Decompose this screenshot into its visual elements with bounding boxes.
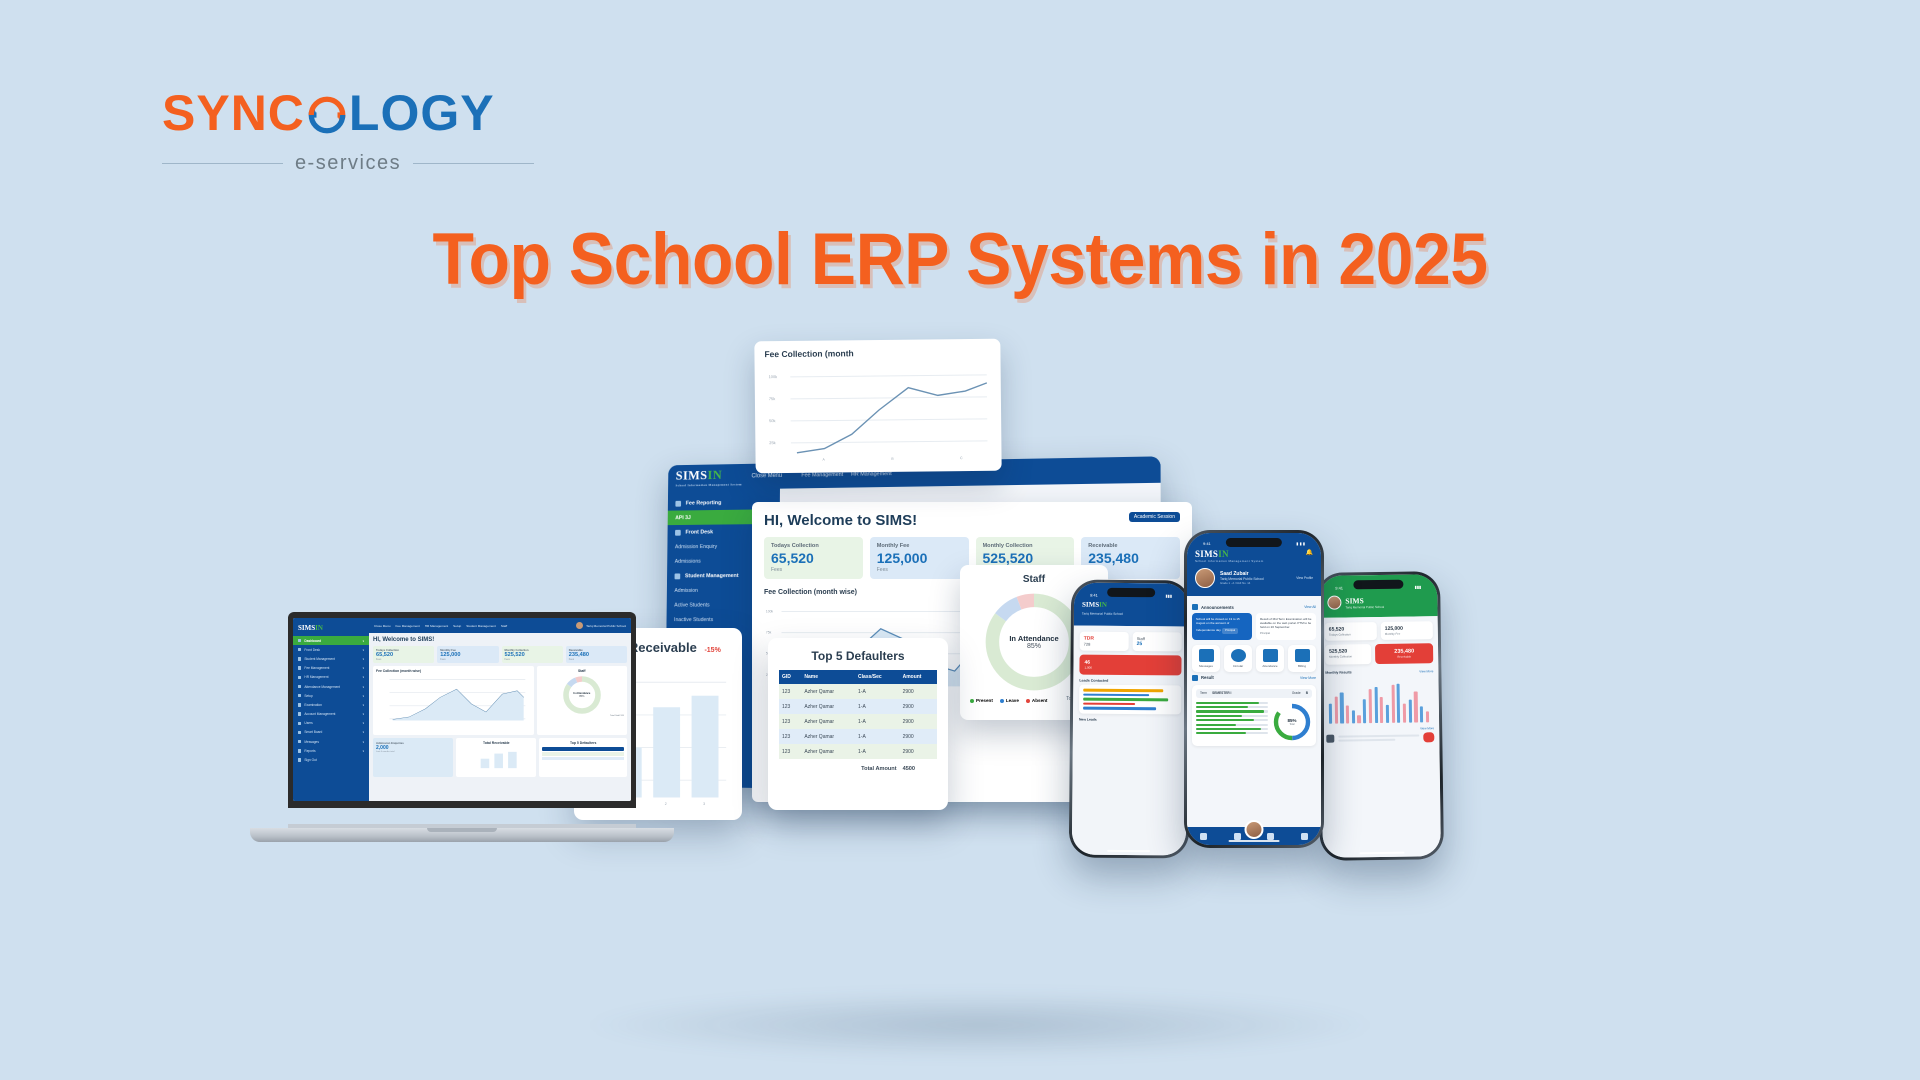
cell-gid: 123 <box>779 699 801 714</box>
donut-label-value: 85% <box>1027 643 1041 650</box>
laptop-sidebar-item-front-desk[interactable]: Front Desk▾ <box>293 645 369 654</box>
grade-label: Grade <box>1292 691 1301 695</box>
sidebar-label: Front Desk <box>685 529 713 535</box>
phone-left-body: TDR 728 Staff 25 46 1,006 Leads Contacte… <box>1072 626 1188 856</box>
staff-total-label: Total Staff 120 <box>540 715 624 717</box>
phone-right-kpi-row: 65,520 Todays Collection 125,000 Monthly… <box>1325 621 1433 641</box>
admission-sub: Last 6 months total <box>376 751 450 753</box>
laptop-main: Close Menu Fee Management HR Management … <box>369 618 631 801</box>
academic-session-badge[interactable]: Academic Session <box>1129 512 1180 522</box>
laptop-sidebar-item-users[interactable]: Users▾ <box>293 719 369 728</box>
tile-label: Messages <box>1194 664 1218 668</box>
laptop-staff-donut: In Attendance 85% <box>562 675 602 715</box>
laptop-close-menu[interactable]: Close Menu <box>374 624 391 628</box>
school-name: Tariq Memorial Public School <box>586 624 626 628</box>
kpi-label: Receivable <box>1381 654 1427 659</box>
announcement-tag: Principal <box>1260 632 1312 636</box>
laptop-nav-student[interactable]: Student Management <box>466 624 496 628</box>
donut-label-value: 85% <box>579 695 584 698</box>
laptop-bar-chart <box>459 745 533 769</box>
laptop-sidebar-item-hr-management[interactable]: HR Management▾ <box>293 673 369 682</box>
cell-gid: 123 <box>779 684 801 699</box>
legend-leave: Leave <box>1000 698 1019 703</box>
laptop-chart-row: Fee Collection (month wise) <box>373 666 627 735</box>
phone-notch <box>1226 538 1282 547</box>
tile-messages[interactable]: Messages <box>1192 645 1220 672</box>
term-label: Term <box>1200 691 1207 695</box>
subject-bar <box>1196 706 1268 708</box>
kpi-value: 25 <box>1137 641 1178 647</box>
list-icon <box>1326 735 1334 743</box>
grade-value: B <box>1306 691 1308 695</box>
announcement-card-2[interactable]: Result of Mid Term Examination will be a… <box>1256 613 1316 640</box>
avatar <box>576 622 583 629</box>
legend-label: Leave <box>1006 698 1019 703</box>
stat-value: 65,520 <box>771 550 856 566</box>
svg-text:75k: 75k <box>769 396 775 401</box>
status-icons: ▮▮▮ <box>1415 584 1422 589</box>
sidebar-label: Fee Reporting <box>686 500 722 506</box>
stat-sub: Fees <box>376 658 431 661</box>
laptop-fee-chart-card: Fee Collection (month wise) <box>373 666 534 735</box>
section-title: Result <box>1201 675 1214 680</box>
subject-bar <box>1196 724 1268 726</box>
student-icon <box>675 573 681 579</box>
phone-left-footer: New Leads <box>1079 717 1181 722</box>
tagline-rule-right <box>413 163 534 164</box>
laptop-sidebar[interactable]: SIMSIN Dashboard▾ Front Desk▾ Student Ma… <box>293 618 369 801</box>
cell-name: Azher Qamar <box>801 684 855 699</box>
laptop-sidebar-item-attendance[interactable]: Attendance Management▾ <box>293 682 369 691</box>
tagline-rule-left <box>162 163 283 164</box>
brand-tagline: e-services <box>295 152 401 175</box>
cell-gid: 123 <box>779 744 801 759</box>
brand-name-part2: LOGY <box>349 88 495 138</box>
stat-sub: Fees <box>505 658 560 661</box>
sidebar-label: HR Management <box>304 675 328 679</box>
status-time: 9:41 <box>1203 541 1211 546</box>
announcements-header: Announcements View All <box>1192 604 1316 610</box>
cell-amount: 2900 <box>900 684 937 699</box>
laptop-stat-today: Todays Collection 65,520 Fees <box>373 646 434 663</box>
list-red-badge[interactable] <box>1423 732 1434 742</box>
phone-right-kpi-receivable: 235,480 Receivable <box>1375 643 1433 664</box>
phone-right-grouped-bar-chart <box>1325 678 1434 724</box>
page-title: Top School ERP Systems in 2025 <box>67 218 1853 301</box>
status-icons: ▮▮▮ <box>1165 593 1172 598</box>
result-icon <box>1192 675 1198 681</box>
laptop-admission-card: Admission Enquiries 2,000 Last 6 months … <box>373 738 453 777</box>
calendar-icon <box>1263 649 1278 662</box>
result-card-header: Term SEMESTER I Grade B <box>1196 689 1312 698</box>
phone-left-frame: 9:41 ▮▮▮ SIMSIN Tariq Memorial Public Sc… <box>1069 579 1191 858</box>
sidebar-label: Front Desk <box>304 648 320 652</box>
defaulters-table: GID Name Class/Sec Amount 123 Azher Qama… <box>779 670 937 777</box>
laptop-nav-setup[interactable]: Setup <box>453 624 461 628</box>
invoice-icon <box>1295 649 1310 662</box>
phone-right-kpi-3: 525,520 Monthly Collection <box>1325 644 1371 665</box>
kpi-label: Monthly Fee <box>1385 631 1429 636</box>
section-title: Announcements <box>1201 605 1234 610</box>
sidebar-label: Account Management <box>304 712 335 716</box>
svg-text:B: B <box>891 457 894 461</box>
tile-label: Circular <box>1226 664 1250 668</box>
sidebar-label: Attendance Management <box>304 685 340 689</box>
cell-name: Azher Qamar <box>801 699 855 714</box>
stat-card-monthly-fee: Monthly Fee 125,000 Fees <box>870 537 969 579</box>
phone-left-device: 9:41 ▮▮▮ SIMSIN Tariq Memorial Public Sc… <box>1069 579 1191 858</box>
sidebar-label: Messages <box>304 740 319 744</box>
sync-circle-icon <box>306 94 348 136</box>
staff-card-title: Staff <box>970 574 1098 585</box>
brand-name-part1: SYNC <box>162 88 305 138</box>
laptop-device: SIMSIN Dashboard▾ Front Desk▾ Student Ma… <box>250 612 674 842</box>
circle-icon <box>1231 649 1246 662</box>
laptop-nav-staff[interactable]: Staff <box>501 624 507 628</box>
sidebar-label: Fee Management <box>304 666 329 670</box>
announcement-text: Result of Mid Term Examination will be a… <box>1260 617 1311 629</box>
laptop-stat-monthly-collection: Monthly Collection 525,520 Fees <box>502 646 563 663</box>
cell-amount: 2900 <box>900 699 937 714</box>
chat-icon[interactable] <box>1267 833 1274 840</box>
announcement-tag: Principal <box>1222 628 1238 634</box>
chat-icon <box>1199 649 1214 662</box>
phone-left-kpi-staff: Staff 25 <box>1133 632 1182 651</box>
profile-avatar[interactable] <box>1245 820 1264 839</box>
stat-label: Monthly Collection <box>983 543 1068 549</box>
view-all-link[interactable]: View All <box>1304 605 1316 609</box>
report-icon <box>675 500 681 506</box>
view-profile-link[interactable]: View Profile <box>1296 576 1313 580</box>
stat-value: 235,480 <box>1088 550 1173 566</box>
stat-sub: Fees <box>877 567 962 573</box>
sims-logo-phone-left: SIMSIN <box>1082 601 1180 610</box>
laptop-stat-row: Todays Collection 65,520 Fees Monthly Fe… <box>373 646 627 663</box>
sims-logo-phone-center: SIMSIN <box>1195 549 1264 559</box>
phone-right-device: 9:41 ▮▮▮ SIMS Tariq Memorial Public Scho… <box>1316 571 1444 861</box>
term-value: SEMESTER I <box>1212 691 1231 695</box>
tile-label: Billing <box>1290 664 1314 668</box>
table-row[interactable]: 123 Azher Qamar 1-A 2900 <box>779 714 937 729</box>
laptop-bottom-row: Admission Enquiries 2,000 Last 6 months … <box>373 738 627 777</box>
subject-bar <box>1196 732 1268 734</box>
quick-action-tiles: Messages Circular Attendance Billin <box>1192 645 1316 672</box>
laptop-greeting: HI, Welcome to SIMS! <box>373 637 627 643</box>
menu-icon[interactable] <box>1301 833 1308 840</box>
laptop-nav-fee[interactable]: Fee Management <box>396 624 420 628</box>
top-defaulters-card: Top 5 Defaulters GID Name Class/Sec Amou… <box>768 638 948 810</box>
sidebar-label: Admission <box>674 587 698 593</box>
svg-text:3: 3 <box>703 802 705 806</box>
announcement-card-1[interactable]: School will be closed on 13 to 15 August… <box>1192 613 1252 640</box>
result-card-body: 85% Total <box>1196 702 1312 742</box>
laptop-account[interactable]: Tariq Memorial Public School <box>576 622 626 629</box>
legend-absent: Absent <box>1026 698 1048 703</box>
laptop-screen: SIMSIN Dashboard▾ Front Desk▾ Student Ma… <box>288 612 636 808</box>
cell-class: 1-A <box>855 684 900 699</box>
phone-right-kpi-2: 125,000 Monthly Fee <box>1381 621 1433 640</box>
svg-text:A: A <box>823 458 826 462</box>
sidebar-label: Reports <box>304 749 315 753</box>
subject-bar <box>1196 715 1268 717</box>
avatar <box>1327 596 1341 610</box>
tile-billing[interactable]: Billing <box>1288 645 1316 672</box>
laptop-sidebar-item-signout[interactable]: Sign Out <box>293 755 369 764</box>
table-total-row: Total Amount 4500 <box>779 759 937 777</box>
stat-sub: Fees <box>569 658 624 661</box>
brand-tagline-row: e-services <box>162 152 534 175</box>
kpi-label: Monthly Collection <box>1329 654 1367 659</box>
sidebar-label: Users <box>304 721 312 725</box>
phone-left-red-kpi: 46 1,006 <box>1079 655 1181 676</box>
laptop-stat-receivable: Receivable 235,480 Fees <box>566 646 627 663</box>
notification-icon[interactable] <box>1234 833 1241 840</box>
phone-notch <box>1107 588 1155 597</box>
subject-bar <box>1196 710 1268 712</box>
result-percent-sub: Total <box>1289 723 1294 726</box>
dashboard-greeting: HI, Welcome to SIMS! <box>764 512 1180 529</box>
legend-label: Present <box>976 698 993 703</box>
sims-logo-sub: School Information Management System <box>676 482 742 487</box>
sidebar-label: Active Students <box>674 602 709 608</box>
laptop-topbar[interactable]: Close Menu Fee Management HR Management … <box>369 618 631 633</box>
stat-sub: Fees <box>440 658 495 661</box>
kpi-label: Todays Collection <box>1329 632 1373 637</box>
tile-circular[interactable]: Circular <box>1224 645 1252 672</box>
laptop-sidebar-item-student-management[interactable]: Student Management▾ <box>293 654 369 663</box>
view-more-link[interactable]: View More <box>1300 676 1316 680</box>
cell-gid: 123 <box>779 714 801 729</box>
cell-class: 1-A <box>855 729 900 744</box>
stat-value: 125,000 <box>877 550 962 566</box>
close-menu-button[interactable]: Close Menu <box>751 473 782 479</box>
col-name: Name <box>801 670 855 684</box>
phone-center-frame: 9:41 ▮ ▮ ▮ SIMSIN School Information Man… <box>1184 530 1324 848</box>
sidebar-label: Sign Out <box>304 758 316 762</box>
device-mockup-composite: SIMSIN School Information Management Sys… <box>300 350 1620 1050</box>
cell-name: Azher Qamar <box>801 729 855 744</box>
tile-attendance[interactable]: Attendance <box>1256 645 1284 672</box>
status-time: 9:41 <box>1090 592 1098 597</box>
nav-item-fee[interactable]: Fee Management <box>801 472 843 479</box>
phone-left-kpi-tdr: TDR 728 <box>1080 632 1129 651</box>
svg-text:100k: 100k <box>769 374 778 379</box>
laptop-sidebar-item-fee-management[interactable]: Fee Management▾ <box>293 664 369 673</box>
view-more-link[interactable]: View More <box>1420 726 1434 730</box>
tile-label: Attendance <box>1258 664 1282 668</box>
fee-collection-float-line-chart: 100k 75k 50k 25k A B C <box>765 361 992 467</box>
brand-logo: SYNC LOGY e-services <box>162 88 542 175</box>
kpi-sub: 1,006 <box>1084 666 1176 671</box>
table-row[interactable]: 123 Azher Qamar 1-A 2900 <box>779 684 937 699</box>
laptop-defaulters-card: Top 5 Defaulters <box>539 738 627 777</box>
phone-notch <box>1353 580 1403 590</box>
stat-value: 525,520 <box>983 550 1068 566</box>
laptop-dashboard: HI, Welcome to SIMS! Todays Collection 6… <box>369 633 631 801</box>
svg-text:75k: 75k <box>766 631 772 635</box>
svg-text:100k: 100k <box>766 610 773 614</box>
sims-logo-sub: School Information Management System <box>1195 559 1264 563</box>
chart-title: Staff <box>540 669 624 673</box>
col-amount: Amount <box>900 670 937 684</box>
phone-center-body: Announcements View All School will be cl… <box>1187 596 1321 827</box>
stat-label: Monthly Fee <box>877 543 962 549</box>
svg-text:50k: 50k <box>769 418 775 423</box>
school-name: Tariq Memorial Public School <box>1082 612 1180 617</box>
phone-left-bars-card <box>1079 685 1181 714</box>
phone-right-frame: 9:41 ▮▮▮ SIMS Tariq Memorial Public Scho… <box>1316 571 1444 861</box>
laptop-sidebar-item-dashboard[interactable]: Dashboard▾ <box>293 636 369 645</box>
phone-center-profile[interactable]: Saad Zubair Tariq Memorial Public School… <box>1195 568 1313 588</box>
laptop-sidebar-item-reports[interactable]: Reports▾ <box>293 746 369 755</box>
cell-class: 1-A <box>855 714 900 729</box>
view-more-link[interactable]: View More <box>1419 669 1433 673</box>
table-row[interactable]: 123 Azher Qamar 1-A 2900 <box>779 729 937 744</box>
sidebar-label: Smart Board <box>304 730 322 734</box>
sidebar-label: Setup <box>304 694 312 698</box>
cell-gid: 123 <box>779 729 801 744</box>
home-indicator <box>1229 840 1280 843</box>
defaulters-title: Top 5 Defaulters <box>779 649 937 663</box>
brand-wordmark: SYNC LOGY <box>162 88 542 138</box>
subject-bars <box>1196 702 1268 742</box>
phone-right-body: 65,520 Todays Collection 125,000 Monthly… <box>1320 616 1441 858</box>
phone-center-tabbar[interactable] <box>1187 827 1321 845</box>
cell-amount: 2900 <box>900 729 937 744</box>
sims-logo-laptop: SIMSIN <box>293 622 369 636</box>
phone-left-screen: 9:41 ▮▮▮ SIMSIN Tariq Memorial Public Sc… <box>1072 583 1188 856</box>
col-gid: GID <box>779 670 801 684</box>
receivable-change-badge: -15% <box>704 647 720 654</box>
avatar <box>1195 568 1215 588</box>
table-row[interactable]: 123 Azher Qamar 1-A 2900 <box>779 699 937 714</box>
laptop-nav-hr[interactable]: HR Management <box>425 624 448 628</box>
laptop-line-chart <box>376 673 531 727</box>
status-icons: ▮ ▮ ▮ <box>1296 541 1305 546</box>
notification-icon[interactable]: 🔔 <box>1306 549 1313 556</box>
sidebar-label: Inactive Students <box>674 617 713 623</box>
total-value: 4500 <box>900 759 937 777</box>
cell-class: 1-A <box>855 744 900 759</box>
cell-name: Azher Qamar <box>801 714 855 729</box>
home-indicator <box>1107 849 1150 852</box>
announcement-icon <box>1192 604 1198 610</box>
laptop-stat-monthly-fee: Monthly Fee 125,000 Fees <box>437 646 498 663</box>
chart-title: Fee Collection (month <box>764 347 990 359</box>
legend-present: Present <box>970 698 993 703</box>
laptop-sidebar-item-setup[interactable]: Setup▾ <box>293 691 369 700</box>
sidebar-label: Examination <box>304 703 322 707</box>
col-class: Class/Sec <box>855 670 900 684</box>
result-card: Term SEMESTER I Grade B <box>1192 685 1316 746</box>
stat-sub: Fees <box>771 567 856 573</box>
phone-center-device: 9:41 ▮ ▮ ▮ SIMSIN School Information Man… <box>1184 530 1324 848</box>
student-class: Grade 1 - A / Roll No. 14 <box>1220 581 1264 585</box>
laptop-receivable-card: Total Receivable <box>456 738 536 777</box>
subject-bar <box>1196 728 1268 730</box>
kpi-value: 728 <box>1084 642 1125 647</box>
subject-bar <box>1196 702 1268 704</box>
sidebar-label: API 3J <box>675 515 691 521</box>
cell-amount: 2900 <box>900 744 937 759</box>
svg-text:C: C <box>960 456 963 460</box>
greeting-text: HI, Welcome to SIMS! <box>764 512 917 529</box>
sidebar-label: Admission Enquiry <box>675 544 717 550</box>
laptop-base <box>250 828 674 842</box>
school-name: Tariq Memorial Public School <box>1345 604 1384 609</box>
phone-left-section-title: Leads Contacted <box>1079 679 1181 684</box>
laptop-sidebar-item-messages[interactable]: Messages▾ <box>293 737 369 746</box>
composite-shadow <box>580 990 1380 1060</box>
home-icon[interactable] <box>1200 833 1207 840</box>
laptop-screen-content: SIMSIN Dashboard▾ Front Desk▾ Student Ma… <box>293 618 631 801</box>
fee-collection-floating-card: Fee Collection (month 100k 75k 50k 25k A… <box>754 339 1001 474</box>
status-time: 9:41 <box>1335 585 1343 590</box>
cell-class: 1-A <box>855 699 900 714</box>
laptop-sidebar-item-examination[interactable]: Examination▾ <box>293 700 369 709</box>
sims-logo: SIMSIN School Information Management Sys… <box>676 467 742 487</box>
chart-title: Monthly Results <box>1325 670 1351 674</box>
sidebar-label: Student Management <box>304 657 334 661</box>
sidebar-label: Admissions <box>675 558 701 564</box>
laptop-sidebar-item-smart-board[interactable]: Smart Board▾ <box>293 728 369 737</box>
stat-card-today-collection: Todays Collection 65,520 Fees <box>764 537 863 579</box>
stat-label: Todays Collection <box>771 543 856 549</box>
cell-name: Azher Qamar <box>801 744 855 759</box>
total-label: Total Amount <box>801 759 899 777</box>
sidebar-label: Student Management <box>685 573 739 579</box>
table-row[interactable]: 123 Azher Qamar 1-A 2900 <box>779 744 937 759</box>
phone-right-screen: 9:41 ▮▮▮ SIMS Tariq Memorial Public Scho… <box>1319 574 1441 858</box>
cell-amount: 2900 <box>900 714 937 729</box>
desk-icon <box>675 529 681 535</box>
phone-center-screen: 9:41 ▮ ▮ ▮ SIMSIN School Information Man… <box>1187 533 1321 845</box>
donut-label-text: In Attendance <box>1009 634 1058 643</box>
result-donut: 85% Total <box>1272 702 1312 742</box>
result-header: Result View More <box>1192 675 1316 681</box>
subject-bar <box>1196 719 1268 721</box>
phone-right-kpi-1: 65,520 Todays Collection <box>1325 622 1377 641</box>
laptop-sidebar-item-account[interactable]: Account Management▾ <box>293 710 369 719</box>
sidebar-label: Dashboard <box>304 639 321 643</box>
table-header-row: GID Name Class/Sec Amount <box>779 670 937 684</box>
stat-label: Receivable <box>1088 543 1173 549</box>
legend-label: Absent <box>1032 698 1048 703</box>
svg-text:25k: 25k <box>769 440 775 445</box>
defaulters-title: Top 5 Defaulters <box>542 741 624 745</box>
announcement-row: School will be closed on 13 to 15 August… <box>1192 613 1316 640</box>
laptop-staff-card: Staff In Attendance 85% <box>537 666 627 735</box>
